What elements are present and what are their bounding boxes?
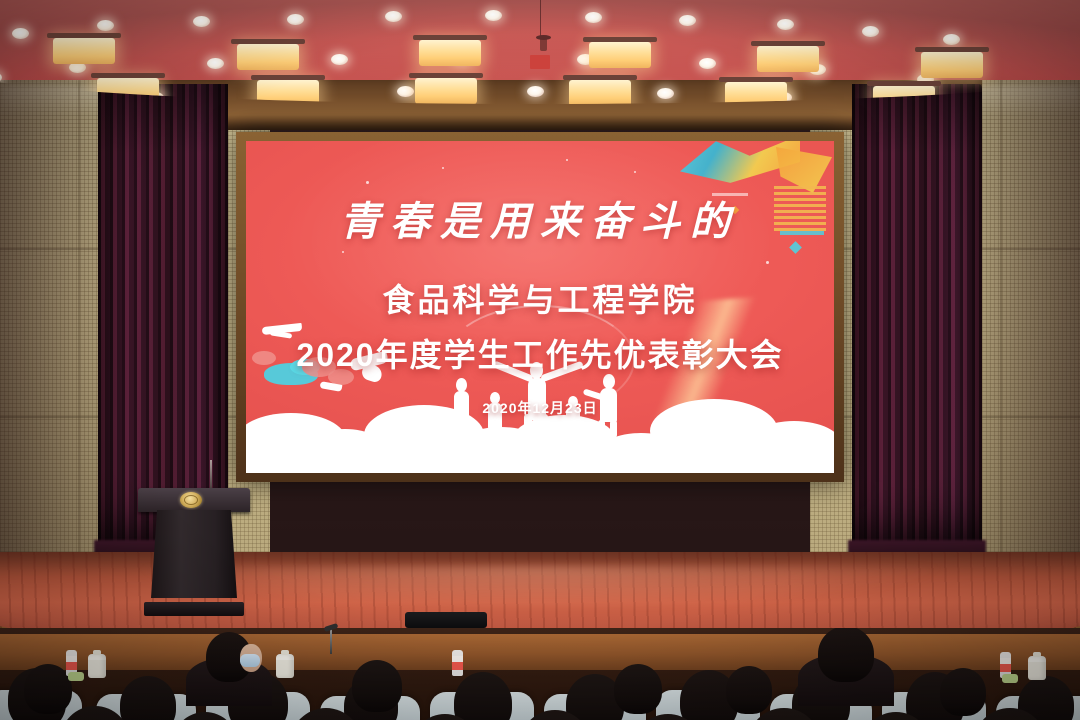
screen-tagline: 青春是用来奋斗的 bbox=[246, 189, 834, 247]
warm-panel-light bbox=[757, 46, 819, 72]
warm-panel-light bbox=[419, 40, 481, 66]
screen-date: 2020年12月23日 bbox=[246, 398, 834, 418]
warm-panel-light bbox=[53, 38, 115, 64]
audience-head bbox=[726, 666, 772, 714]
warm-panel-light bbox=[589, 42, 651, 68]
stage-curtain bbox=[98, 84, 228, 552]
gold-university-emblem bbox=[180, 492, 202, 508]
audience-head bbox=[614, 664, 662, 714]
recessed-spot-light bbox=[287, 14, 304, 25]
green-cup[interactable] bbox=[68, 672, 84, 681]
front-table bbox=[0, 634, 1080, 670]
recessed-spot-light bbox=[862, 26, 879, 37]
audience-head bbox=[454, 672, 512, 720]
ceiling-projector-mount bbox=[540, 38, 547, 51]
screen-organization: 食品科学与工程学院 bbox=[246, 275, 834, 321]
stage-curtain bbox=[852, 84, 982, 552]
seated-audience bbox=[0, 628, 1080, 720]
auditorium-scene: 青春是用来奋斗的 食品科学与工程学院 2020年度学生工作先优表彰大会 2020… bbox=[0, 0, 1080, 720]
audience-head bbox=[352, 660, 402, 712]
recessed-spot-light bbox=[397, 86, 414, 97]
led-screen-frame: 青春是用来奋斗的 食品科学与工程学院 2020年度学生工作先优表彰大会 2020… bbox=[236, 132, 844, 482]
recessed-spot-light bbox=[777, 19, 794, 30]
recessed-spot-light bbox=[207, 58, 224, 69]
audience-head bbox=[940, 668, 986, 716]
podium-body bbox=[151, 510, 237, 598]
recessed-spot-light bbox=[657, 88, 674, 99]
recessed-spot-light bbox=[385, 11, 402, 22]
face-mask bbox=[240, 654, 260, 667]
recessed-spot-light bbox=[331, 54, 348, 65]
recessed-spot-light bbox=[527, 86, 544, 97]
audience-head bbox=[120, 676, 176, 720]
recessed-spot-light bbox=[679, 15, 696, 26]
ceiling-wire bbox=[540, 0, 541, 38]
warm-panel-light bbox=[237, 44, 299, 70]
speaker-box bbox=[405, 612, 487, 628]
recessed-spot-light bbox=[97, 20, 114, 31]
warm-panel-light bbox=[257, 80, 319, 104]
warm-panel-light bbox=[415, 78, 477, 104]
green-cup[interactable] bbox=[1002, 674, 1018, 683]
cloud-band bbox=[246, 447, 834, 473]
led-screen: 青春是用来奋斗的 食品科学与工程学院 2020年度学生工作先优表彰大会 2020… bbox=[246, 141, 834, 473]
stage-microphone bbox=[330, 628, 332, 654]
ceiling-red-sign bbox=[530, 55, 550, 69]
screen-event-title: 2020年度学生工作先优表彰大会 bbox=[246, 330, 834, 376]
thermos-cup[interactable] bbox=[1028, 656, 1046, 680]
thermos-cup[interactable] bbox=[276, 654, 294, 678]
warm-panel-light bbox=[873, 86, 935, 104]
podium-base bbox=[144, 602, 244, 616]
warm-panel-light bbox=[921, 52, 983, 78]
warm-panel-light bbox=[725, 82, 787, 104]
recessed-spot-light bbox=[943, 34, 960, 45]
audience-head bbox=[24, 664, 72, 714]
warm-panel-light bbox=[569, 80, 631, 104]
audience-head bbox=[818, 628, 874, 682]
podium-top bbox=[138, 488, 250, 512]
recessed-spot-light bbox=[12, 28, 29, 39]
recessed-spot-light bbox=[585, 12, 602, 23]
recessed-spot-light bbox=[193, 16, 210, 27]
podium-microphone bbox=[210, 460, 212, 490]
screen-text-block: 青春是用来奋斗的 食品科学与工程学院 2020年度学生工作先优表彰大会 2020… bbox=[246, 141, 834, 418]
water-bottle[interactable] bbox=[452, 650, 463, 676]
recessed-spot-light bbox=[699, 58, 716, 69]
speaking-podium[interactable] bbox=[138, 488, 250, 616]
warm-panel-light bbox=[97, 78, 159, 104]
recessed-spot-light bbox=[485, 10, 502, 21]
thermos-cup[interactable] bbox=[88, 654, 106, 678]
